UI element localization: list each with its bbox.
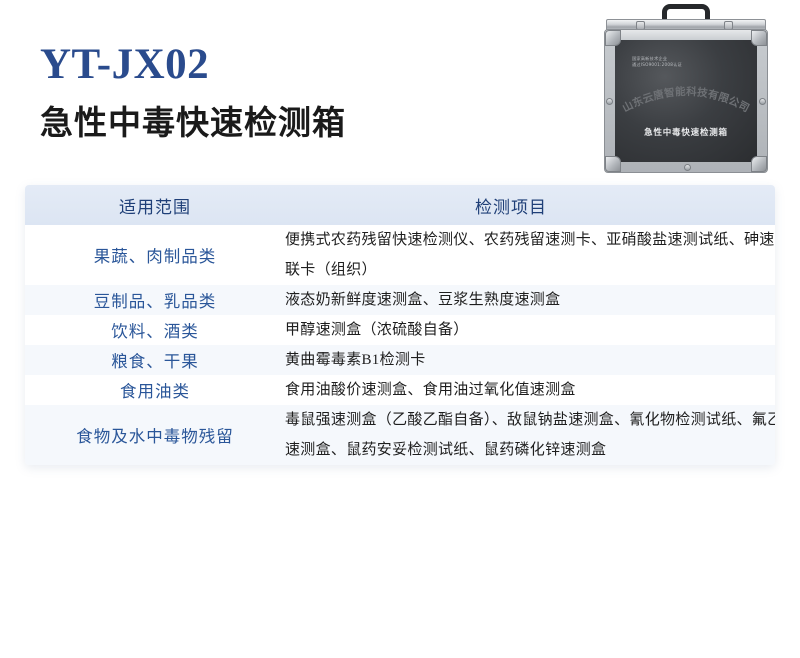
cell-scope: 粮食、干果 [25,345,285,375]
case-front-panel: 国家高新技术企业通过ISO9001:2008认证 山东云唐智能科技有限公司 急性… [615,40,757,162]
page-header: YT-JX02 急性中毒快速检测箱 国家高新技术企业通过ISO9001:2008… [0,0,800,185]
cell-scope: 饮料、酒类 [25,315,285,345]
product-name: 急性中毒快速检测箱 [40,102,346,146]
product-code: YT-JX02 [40,40,346,90]
case-corner-top-right-icon [751,30,767,46]
cell-items: 黄曲霉毒素B1检测卡 [285,345,775,375]
spec-table-container: 适用范围 检测项目 果蔬、肉制品类 便携式农药残留快速检测仪、农药残留速测卡、亚… [25,185,775,465]
cell-items: 甲醇速测盒（浓硫酸自备） [285,315,775,345]
table-row: 果蔬、肉制品类 便携式农药残留快速检测仪、农药残留速测卡、亚硝酸盐速测试纸、砷速… [25,225,775,285]
case-corner-bottom-left-icon [605,156,621,172]
column-header-scope: 适用范围 [25,185,285,225]
cell-items: 液态奶新鲜度速测盒、豆浆生熟度速测盒 [285,285,775,315]
case-brand-arc: 山东云唐智能科技有限公司 [615,76,757,116]
case-body: 国家高新技术企业通过ISO9001:2008认证 山东云唐智能科技有限公司 急性… [604,29,768,173]
cell-scope: 豆制品、乳品类 [25,285,285,315]
spec-table-head: 适用范围 检测项目 [25,185,775,225]
case-model-text: 急性中毒快速检测箱 [615,126,757,138]
case-corner-bottom-right-icon [751,156,767,172]
table-row: 豆制品、乳品类 液态奶新鲜度速测盒、豆浆生熟度速测盒 [25,285,775,315]
column-header-items: 检测项目 [285,185,775,225]
case-certification-text: 国家高新技术企业通过ISO9001:2008认证 [632,56,682,68]
spec-table-body: 果蔬、肉制品类 便携式农药残留快速检测仪、农药残留速测卡、亚硝酸盐速测试纸、砷速… [25,225,775,465]
case-rivet-right-icon [759,98,766,105]
case-corner-top-left-icon [605,30,621,46]
table-row: 食物及水中毒物残留 毒鼠强速测盒（乙酸乙酯自备）、敌鼠钠盐速测盒、氰化物检测试纸… [25,405,775,465]
cell-scope: 食用油类 [25,375,285,405]
case-rivet-bottom-icon [684,164,691,171]
title-block: YT-JX02 急性中毒快速检测箱 [40,40,346,146]
product-photo: 国家高新技术企业通过ISO9001:2008认证 山东云唐智能科技有限公司 急性… [596,4,776,176]
table-header-row: 适用范围 检测项目 [25,185,775,225]
table-row: 饮料、酒类 甲醇速测盒（浓硫酸自备） [25,315,775,345]
cell-items: 毒鼠强速测盒（乙酸乙酯自备）、敌鼠钠盐速测盒、氰化物检测试纸、氟乙酰胺速测盒、硼… [285,405,775,465]
cell-scope: 果蔬、肉制品类 [25,225,285,285]
table-row: 食用油类 食用油酸价速测盒、食用油过氧化值速测盒 [25,375,775,405]
cell-items: 便携式农药残留快速检测仪、农药残留速测卡、亚硝酸盐速测试纸、砷速测盒、汞速测盒、… [285,225,775,285]
cell-items: 食用油酸价速测盒、食用油过氧化值速测盒 [285,375,775,405]
cell-scope: 食物及水中毒物残留 [25,405,285,465]
case-brand-text: 山东云唐智能科技有限公司 [620,85,751,115]
spec-table: 适用范围 检测项目 果蔬、肉制品类 便携式农药残留快速检测仪、农药残留速测卡、亚… [25,185,775,465]
table-row: 粮食、干果 黄曲霉毒素B1检测卡 [25,345,775,375]
case-rivet-left-icon [606,98,613,105]
svg-text:山东云唐智能科技有限公司: 山东云唐智能科技有限公司 [620,85,751,115]
